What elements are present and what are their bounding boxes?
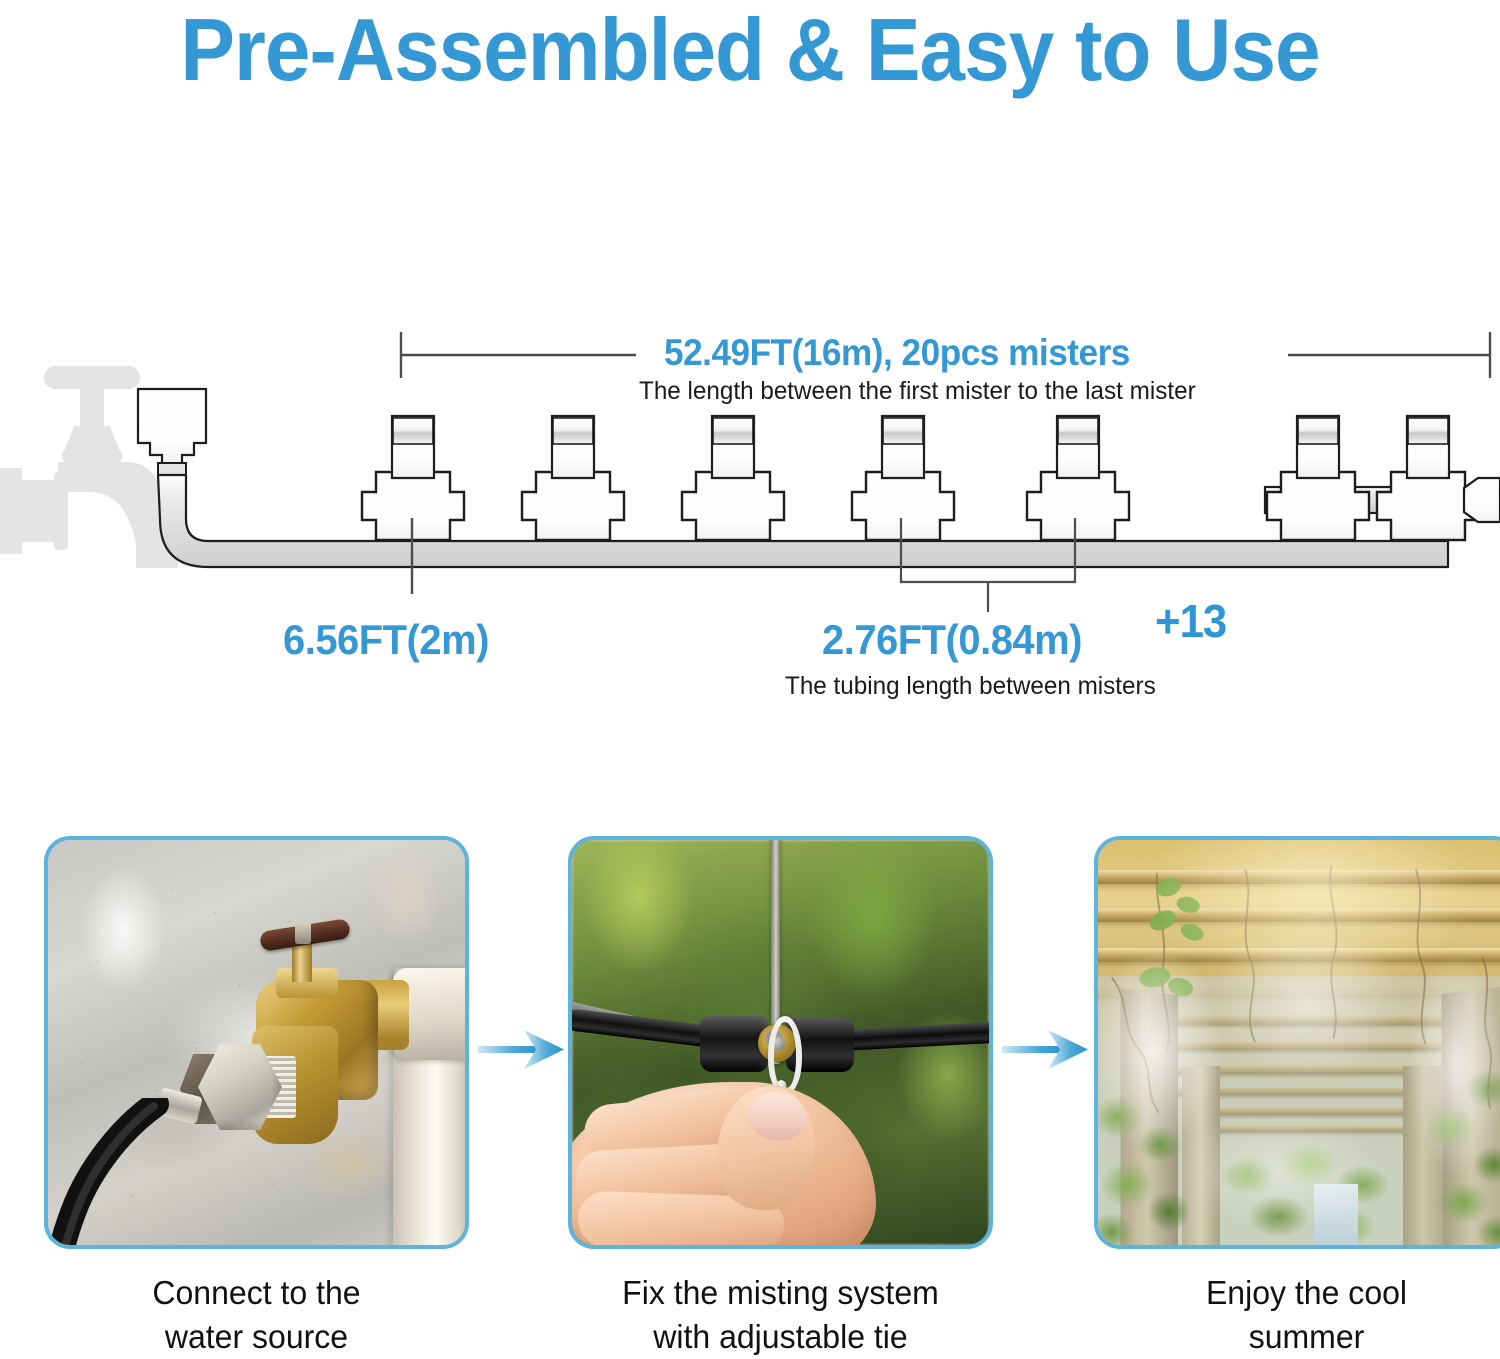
mister-tee-fitting bbox=[682, 416, 784, 540]
mister-tee-fitting bbox=[522, 416, 624, 540]
step-card-3: Enjoy the cool summer bbox=[1094, 836, 1500, 1359]
total-length-sublabel: The length between the first mister to t… bbox=[639, 377, 1196, 406]
step-card-1: Connect to the water source bbox=[44, 836, 469, 1359]
step-caption-line2: water source bbox=[50, 1315, 462, 1359]
mister-tee-fitting bbox=[1377, 416, 1479, 540]
step-arrow-1-icon bbox=[478, 1010, 570, 1090]
mister-tee-fitting bbox=[852, 416, 954, 540]
misting-system-diagram: 52.49FT(16m), 20pcs misters The length b… bbox=[0, 150, 1500, 730]
diagram-illustration bbox=[0, 150, 1500, 730]
mister-tee-fitting bbox=[1267, 416, 1369, 540]
mister-group-main bbox=[362, 416, 1129, 540]
step-caption-3: Enjoy the cool summer bbox=[1100, 1271, 1500, 1359]
end-plug bbox=[1464, 478, 1500, 522]
step-caption-line2: summer bbox=[1100, 1315, 1500, 1359]
step-caption-2: Fix the misting system with adjustable t… bbox=[574, 1271, 986, 1359]
between-misters-length-label: 2.76FT(0.84m) bbox=[822, 616, 1082, 664]
step-caption-line1: Connect to the bbox=[50, 1271, 462, 1315]
photo-connect-to-water-source bbox=[44, 836, 469, 1249]
page-title: Pre-Assembled & Easy to Use bbox=[53, 0, 1448, 102]
photo-enjoy-the-cool-summer bbox=[1094, 836, 1500, 1249]
total-length-label: 52.49FT(16m), 20pcs misters bbox=[664, 332, 1130, 374]
step-caption-line1: Fix the misting system bbox=[574, 1271, 986, 1315]
black-hose bbox=[44, 1098, 178, 1249]
step-caption-line1: Enjoy the cool bbox=[1100, 1271, 1500, 1315]
first-mister-length-label: 6.56FT(2m) bbox=[283, 616, 489, 664]
between-misters-sublabel: The tubing length between misters bbox=[785, 672, 1156, 701]
photo-fix-with-adjustable-tie bbox=[568, 836, 993, 1249]
tubing bbox=[158, 475, 1448, 567]
step-card-2: Fix the misting system with adjustable t… bbox=[568, 836, 993, 1359]
mister-group-continued bbox=[1265, 416, 1500, 540]
step-photo-row: Connect to the water source bbox=[0, 836, 1500, 1358]
faucet-adapter bbox=[138, 389, 206, 475]
step-arrow-2-icon bbox=[1002, 1010, 1094, 1090]
mister-tee-fitting bbox=[1027, 416, 1129, 540]
extra-misters-label: +13 bbox=[1155, 594, 1226, 648]
step-caption-line2: with adjustable tie bbox=[574, 1315, 986, 1359]
step-caption-1: Connect to the water source bbox=[50, 1271, 462, 1359]
